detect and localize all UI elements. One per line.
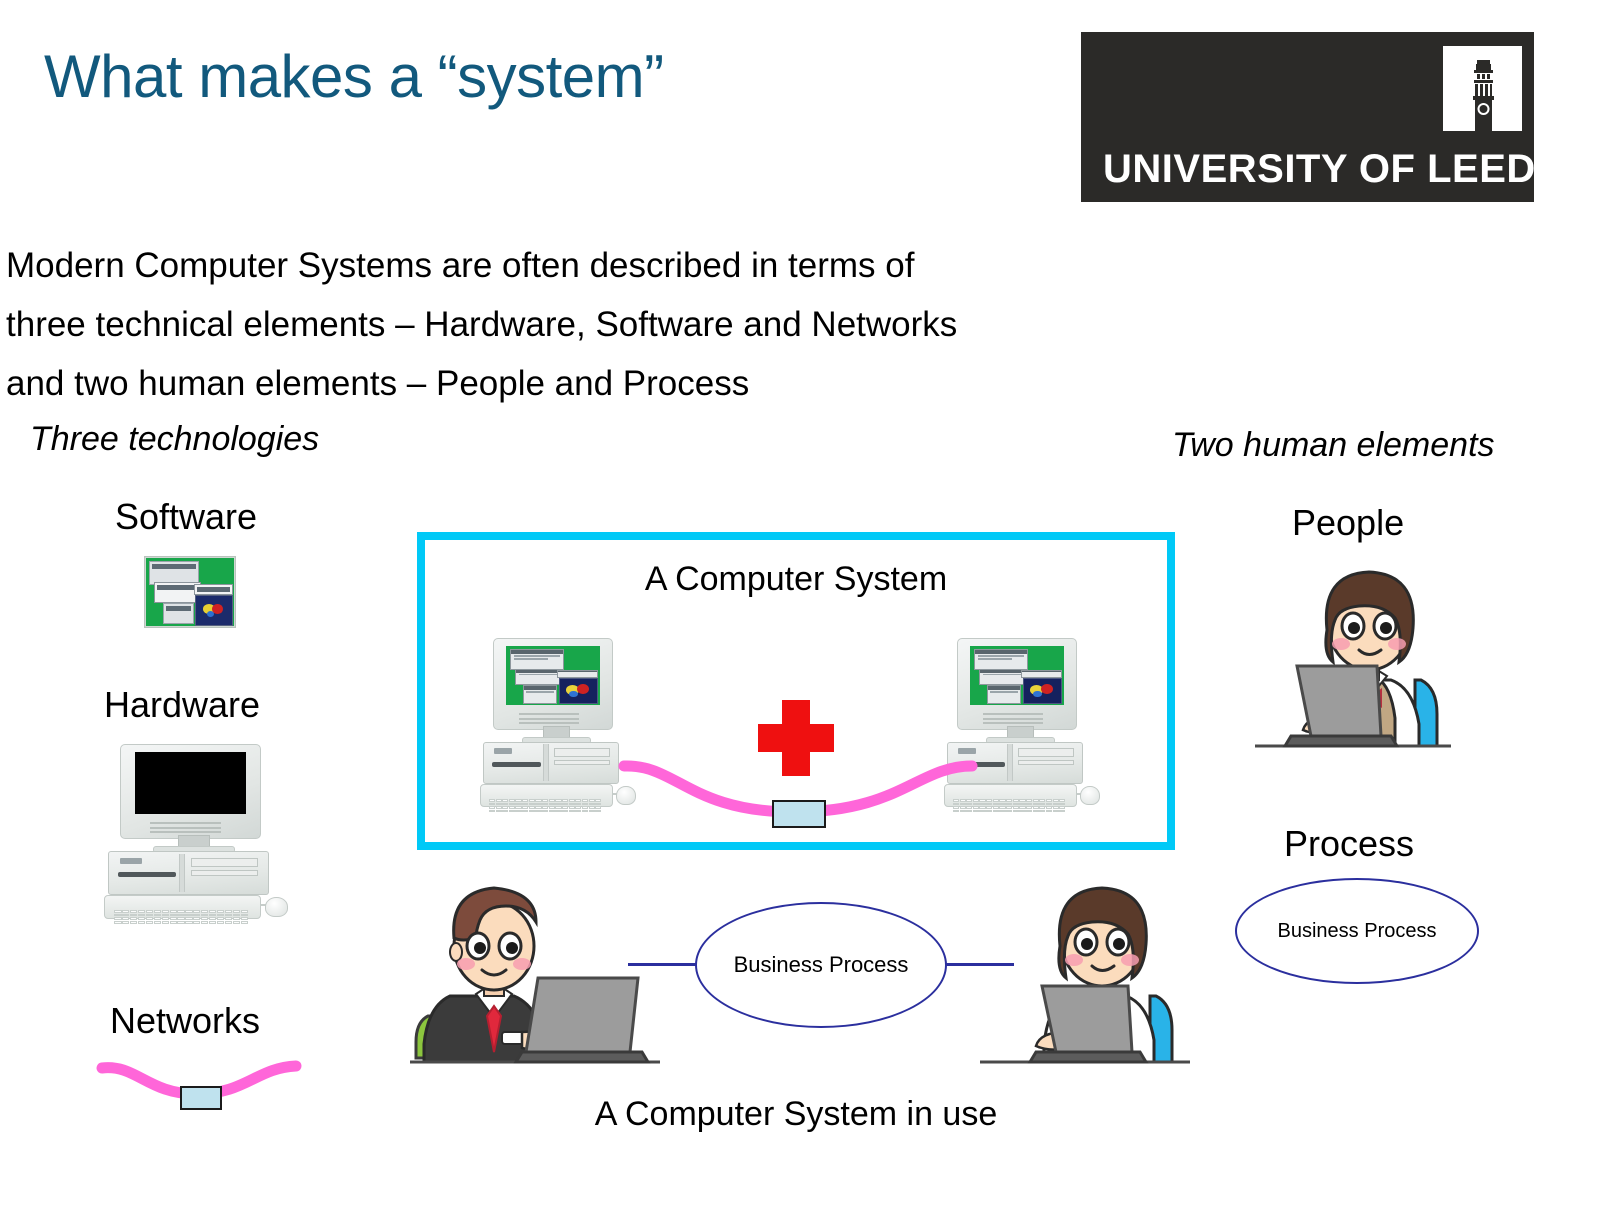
bottom-caption: A Computer System in use bbox=[417, 1095, 1175, 1134]
clock-tower-icon bbox=[1443, 46, 1522, 131]
network-cable-icon bbox=[96, 1046, 302, 1108]
person-at-laptop-woman-bottom bbox=[980, 872, 1190, 1086]
label-process: Process bbox=[1284, 823, 1414, 865]
business-process-ellipse-center: Business Process bbox=[695, 902, 947, 1028]
software-screenshot-icon bbox=[144, 556, 236, 628]
person-at-laptop-man bbox=[410, 866, 660, 1086]
business-process-ellipse-right: Business Process bbox=[1235, 878, 1479, 984]
body-paragraph: Modern Computer Systems are often descri… bbox=[6, 236, 1126, 413]
logo-wordmark: UNIVERSITY OF LEEDS bbox=[1103, 147, 1563, 192]
body-line-1: Modern Computer Systems are often descri… bbox=[6, 236, 1126, 295]
label-software: Software bbox=[115, 496, 257, 538]
page-title: What makes a “system” bbox=[44, 44, 664, 110]
label-people: People bbox=[1292, 502, 1404, 544]
left-column-caption: Three technologies bbox=[30, 420, 319, 459]
network-hub-box bbox=[180, 1086, 222, 1110]
body-line-3: and two human elements – People and Proc… bbox=[6, 354, 1126, 413]
network-hub-box-center bbox=[772, 800, 826, 828]
right-column-caption: Two human elements bbox=[1172, 426, 1495, 465]
clock-tower-svg bbox=[1443, 46, 1522, 131]
body-line-2: three technical elements – Hardware, Sof… bbox=[6, 295, 1126, 354]
person-at-laptop-woman-right bbox=[1255, 556, 1465, 772]
business-process-connector-left bbox=[628, 963, 696, 966]
computer-system-title: A Computer System bbox=[417, 560, 1175, 599]
label-networks: Networks bbox=[110, 1000, 260, 1042]
slide-canvas: What makes a “system” bbox=[0, 0, 1622, 1230]
desktop-computer-icon bbox=[104, 744, 300, 926]
university-of-leeds-logo: UNIVERSITY OF LEEDS bbox=[1081, 32, 1534, 202]
business-process-connector-right bbox=[946, 963, 1014, 966]
label-hardware: Hardware bbox=[104, 684, 260, 726]
